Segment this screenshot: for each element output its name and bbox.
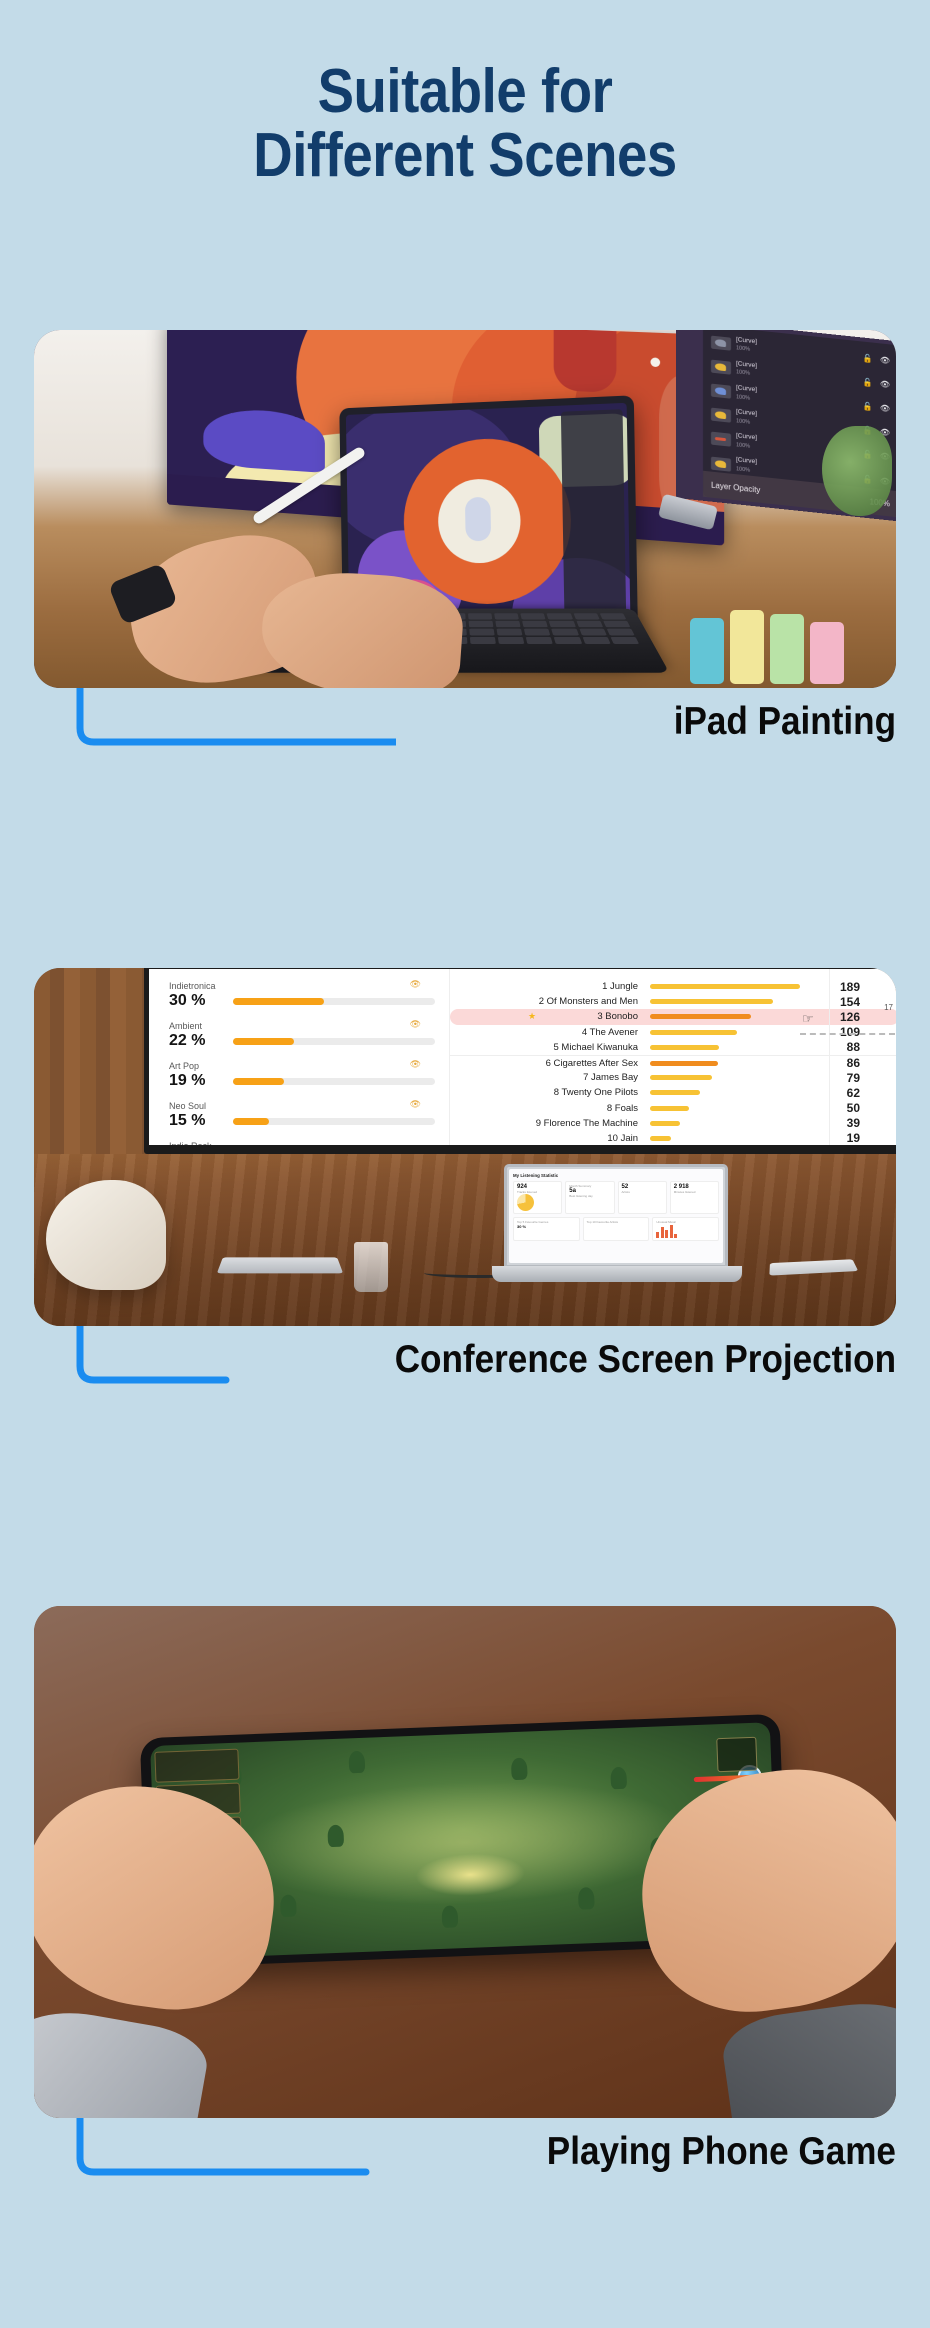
artist-name: 2 Of Monsters and Men bbox=[450, 996, 650, 1007]
genre-item: Ambient 22 % 👁 bbox=[169, 1021, 435, 1050]
metric-card: Month Summary 5a Best listening day bbox=[565, 1181, 614, 1214]
artist-bar bbox=[650, 999, 800, 1004]
layer-opacity: 100% bbox=[736, 370, 750, 377]
artist-name: 3 Bonobo bbox=[450, 1011, 650, 1022]
caption-row-phone-game: Playing Phone Game bbox=[34, 2118, 896, 2204]
dashed-divider bbox=[800, 1033, 895, 1035]
connector-line-icon bbox=[76, 688, 396, 746]
layer-name: [Curve] bbox=[736, 384, 757, 393]
layer-name: [Curve] bbox=[736, 336, 757, 345]
metric-card: 924 Tracks listened bbox=[513, 1181, 562, 1214]
dashboard-title: My Listening Statistic bbox=[513, 1173, 719, 1178]
artist-name: 10 Jain bbox=[450, 1133, 650, 1144]
genre-item: Indietronica 30 % 👁 bbox=[169, 981, 435, 1010]
laptop-base bbox=[492, 1266, 742, 1282]
scene-playing-phone-game: CABLETIME Playing Phone Game bbox=[34, 1606, 896, 2204]
layer-opacity: 100% bbox=[736, 394, 750, 401]
page-title: Suitable for Different Scenes bbox=[0, 0, 930, 188]
unusual-music-panel: 17 bbox=[829, 969, 896, 1145]
scene-caption: Playing Phone Game bbox=[547, 2128, 896, 2176]
genre-progress-track[interactable] bbox=[233, 1038, 435, 1045]
connector-line-icon bbox=[76, 2118, 396, 2176]
scene-conference-screen-projection: Indietronica 30 % 👁 Ambient 22 % 👁 bbox=[34, 968, 896, 1412]
artist-bar bbox=[650, 1106, 800, 1111]
genre-item: Neo Soul 15 % 👁 bbox=[169, 1101, 435, 1130]
scene-caption: iPad Painting bbox=[674, 698, 896, 746]
eye-icon[interactable]: 👁 bbox=[410, 979, 421, 990]
genre-item: Indie Rock bbox=[169, 1141, 435, 1151]
title-line-1: Suitable for bbox=[56, 60, 874, 124]
water-glass bbox=[354, 1242, 388, 1292]
scene-caption: Conference Screen Projection bbox=[395, 1336, 896, 1384]
metric-card: 52 Artists bbox=[618, 1181, 667, 1214]
layer-thumbnail-icon bbox=[711, 432, 731, 447]
bar-chart-icon bbox=[656, 1224, 715, 1238]
metric-label: Tracks listened bbox=[517, 1190, 558, 1194]
artist-bar bbox=[650, 1045, 800, 1050]
unlock-icon[interactable]: 🔓 bbox=[863, 402, 873, 412]
artist-name: 5 Michael Kiwanuka bbox=[450, 1042, 650, 1053]
unlock-icon[interactable]: 🔓 bbox=[863, 353, 873, 363]
scene-ipad-painting: [Curve]100% 🔓👁 [Curve]100% 🔓👁 [Curve]100… bbox=[34, 330, 896, 774]
genre-percent: 19 % bbox=[169, 1072, 223, 1090]
artist-bar bbox=[650, 1090, 800, 1095]
connector-line-icon bbox=[76, 1326, 396, 1384]
layer-thumbnail-icon bbox=[711, 384, 731, 399]
caption-row-ipad-painting: iPad Painting bbox=[34, 688, 896, 774]
genre-percent: 22 % bbox=[169, 1032, 223, 1050]
eye-icon[interactable]: 👁 bbox=[410, 1019, 421, 1030]
unusual-card: Unusual Music bbox=[652, 1217, 719, 1241]
genre-name: Art Pop bbox=[169, 1061, 435, 1071]
metric-label: Best listening day bbox=[569, 1194, 610, 1198]
genre-percent: 15 % bbox=[169, 1112, 223, 1130]
artist-bar bbox=[650, 1030, 800, 1035]
genre-name: Neo Soul bbox=[169, 1101, 435, 1111]
layer-name: [Curve] bbox=[736, 360, 757, 369]
artist-name: 6 Cigarettes After Sex bbox=[450, 1058, 650, 1069]
artist-name: 7 James Bay bbox=[450, 1072, 650, 1083]
metric-card: 2 918 Minutes listened bbox=[670, 1181, 719, 1214]
layer-thumbnail-icon bbox=[711, 408, 731, 423]
artist-name: 1 Jungle bbox=[450, 981, 650, 992]
artist-bar bbox=[650, 1121, 800, 1126]
photo-phone-game: CABLETIME bbox=[34, 1606, 896, 2118]
plant bbox=[822, 426, 892, 516]
artist-bar bbox=[650, 984, 800, 989]
layer-opacity: 100% bbox=[736, 345, 750, 352]
ipad-tool-palette[interactable] bbox=[561, 409, 627, 640]
unlock-icon[interactable]: 🔓 bbox=[863, 377, 873, 387]
genre-progress-track[interactable] bbox=[233, 1118, 435, 1125]
artist-bar bbox=[650, 1061, 800, 1066]
layer-thumbnail-icon bbox=[711, 456, 731, 471]
tv-display: Indietronica 30 % 👁 Ambient 22 % 👁 bbox=[144, 968, 896, 1154]
listening-dashboard: Indietronica 30 % 👁 Ambient 22 % 👁 bbox=[149, 969, 896, 1145]
genre-percent: 30 % bbox=[169, 992, 223, 1010]
artist-bar bbox=[650, 1014, 800, 1019]
genres-card: Top 5 Favourite Genres 30 % bbox=[513, 1217, 580, 1241]
eye-icon[interactable]: 👁 bbox=[880, 355, 890, 365]
genre-name: Indietronica bbox=[169, 981, 435, 991]
favourite-genres-panel: Indietronica 30 % 👁 Ambient 22 % 👁 bbox=[149, 969, 449, 1145]
laptop-screen[interactable]: My Listening Statistic 924 Tracks listen… bbox=[509, 1169, 723, 1263]
layer-opacity: 100% bbox=[736, 418, 750, 425]
artists-card: Top 10 Favourite Artists bbox=[583, 1217, 650, 1241]
eye-icon[interactable]: 👁 bbox=[410, 1059, 421, 1070]
genre-percent: 30 % bbox=[517, 1224, 576, 1229]
chair bbox=[46, 1180, 166, 1290]
layer-opacity-label: Layer Opacity bbox=[711, 480, 760, 494]
eye-icon[interactable]: 👁 bbox=[410, 1099, 421, 1110]
highlighter-markers bbox=[690, 604, 870, 684]
genre-name: Ambient bbox=[169, 1021, 435, 1031]
star-icon[interactable]: ★ bbox=[528, 1011, 536, 1022]
laptop-lid: My Listening Statistic 924 Tracks listen… bbox=[504, 1164, 728, 1268]
artist-name: 8 Twenty One Pilots bbox=[450, 1087, 650, 1098]
artist-name: 9 Florence The Machine bbox=[450, 1118, 650, 1129]
caption-row-conference: Conference Screen Projection bbox=[34, 1326, 896, 1412]
layer-opacity: 100% bbox=[736, 466, 750, 473]
photo-conference: Indietronica 30 % 👁 Ambient 22 % 👁 bbox=[34, 968, 896, 1326]
eye-icon[interactable]: 👁 bbox=[880, 379, 890, 389]
artists-card-title: Top 10 Favourite Artists bbox=[587, 1220, 646, 1224]
layer-name: [Curve] bbox=[736, 457, 757, 466]
minimap-icon[interactable] bbox=[716, 1737, 757, 1773]
donut-chart-icon bbox=[517, 1194, 534, 1211]
metric-label: Minutes listened bbox=[674, 1190, 715, 1194]
layer-name: [Curve] bbox=[736, 408, 757, 417]
side-label: 17 bbox=[884, 1003, 893, 1012]
artist-bar bbox=[650, 1075, 800, 1080]
artist-name: 4 The Avener bbox=[450, 1027, 650, 1038]
title-line-2: Different Scenes bbox=[56, 124, 874, 188]
layer-thumbnail-icon bbox=[711, 359, 731, 374]
eye-icon[interactable]: 👁 bbox=[880, 403, 890, 413]
genre-progress-track[interactable] bbox=[233, 998, 435, 1005]
layer-name: [Curve] bbox=[736, 432, 757, 441]
laptop: My Listening Statistic 924 Tracks listen… bbox=[504, 1164, 734, 1284]
layer-opacity: 100% bbox=[736, 442, 750, 449]
layer-thumbnail-icon bbox=[711, 335, 731, 350]
genre-item: Art Pop 19 % 👁 bbox=[169, 1061, 435, 1090]
artist-bar bbox=[650, 1136, 800, 1141]
metric-label: Artists bbox=[622, 1190, 663, 1194]
genre-progress-track[interactable] bbox=[233, 1078, 435, 1085]
photo-ipad-painting: [Curve]100% 🔓👁 [Curve]100% 🔓👁 [Curve]100… bbox=[34, 330, 896, 688]
genre-name: Indie Rock bbox=[169, 1141, 435, 1151]
artist-name: 8 Foals bbox=[450, 1103, 650, 1114]
tablet-on-table bbox=[217, 1257, 343, 1273]
